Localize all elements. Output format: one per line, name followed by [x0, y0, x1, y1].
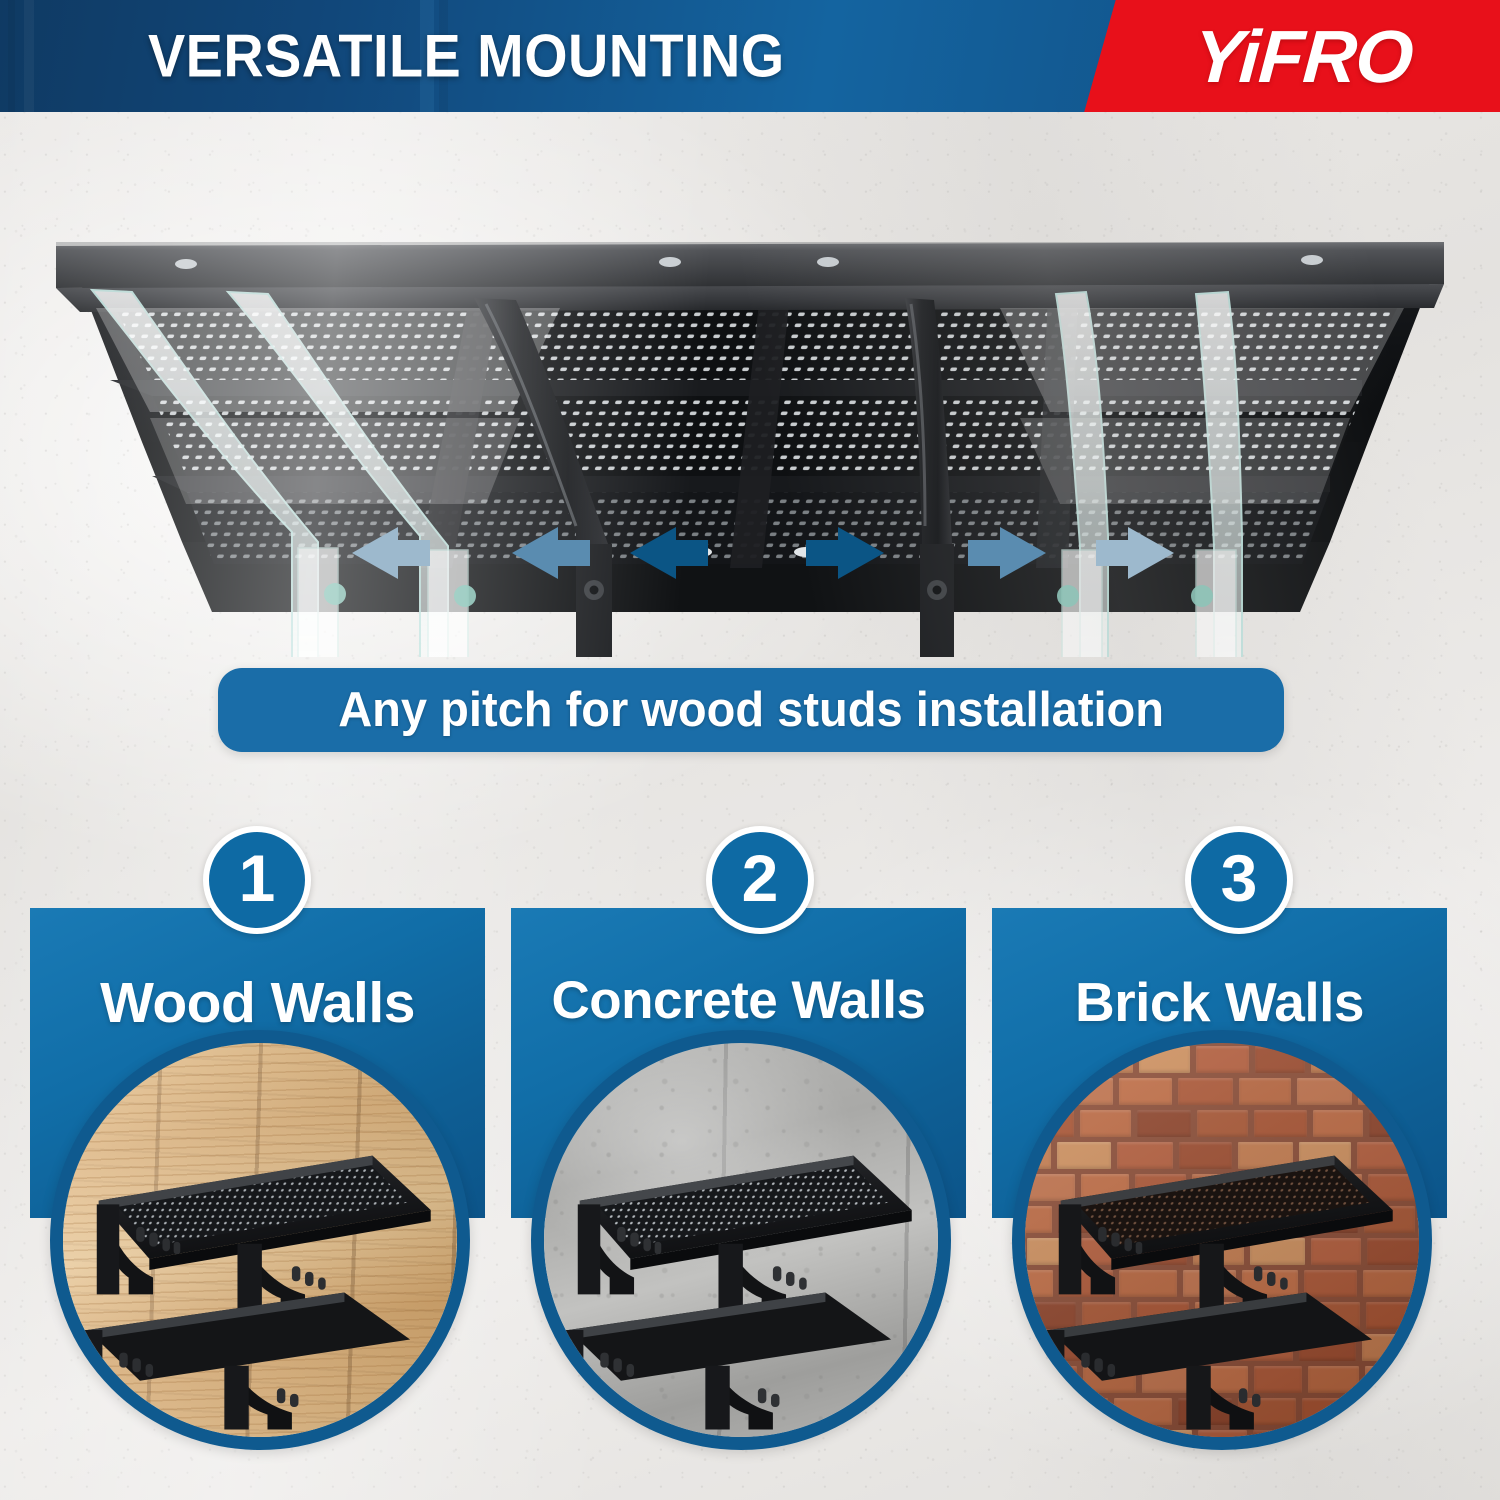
page-title-text: VERSATILE MOUNTING: [148, 22, 785, 91]
brand-wedge: YiFRO: [1080, 0, 1500, 112]
pitch-banner: Any pitch for wood studs installation: [218, 668, 1284, 752]
header-banner: VERSATILE MOUNTING YiFRO: [0, 0, 1500, 112]
wood-wall-scene: [63, 1043, 457, 1437]
brand-logo: YiFRO: [1191, 14, 1415, 99]
option-label-brick: Brick Walls: [992, 970, 1447, 1034]
option-label-concrete: Concrete Walls: [511, 970, 966, 1031]
option-badge-1: 1: [203, 826, 311, 934]
shelf-pair-concrete: [544, 1043, 938, 1437]
option-photo-brick: [1012, 1030, 1432, 1450]
page-title: VERSATILE MOUNTING: [148, 22, 833, 91]
infographic-page: VERSATILE MOUNTING YiFRO: [0, 0, 1500, 1500]
pitch-banner-text: Any pitch for wood studs installation: [338, 682, 1164, 738]
shelf-pair-wood: [63, 1043, 457, 1437]
option-badge-3: 3: [1185, 826, 1293, 934]
option-photo-wood: [50, 1030, 470, 1450]
brick-wall-scene: [1025, 1043, 1419, 1437]
concrete-wall-scene: [544, 1043, 938, 1437]
option-badge-2: 2: [706, 826, 814, 934]
option-badge-3-text: 3: [1221, 845, 1258, 911]
option-badge-2-text: 2: [742, 845, 779, 911]
option-photo-concrete: [531, 1030, 951, 1450]
shelf-pair-brick: [1025, 1043, 1419, 1437]
option-badge-1-text: 1: [239, 845, 276, 911]
option-label-wood: Wood Walls: [30, 970, 485, 1036]
